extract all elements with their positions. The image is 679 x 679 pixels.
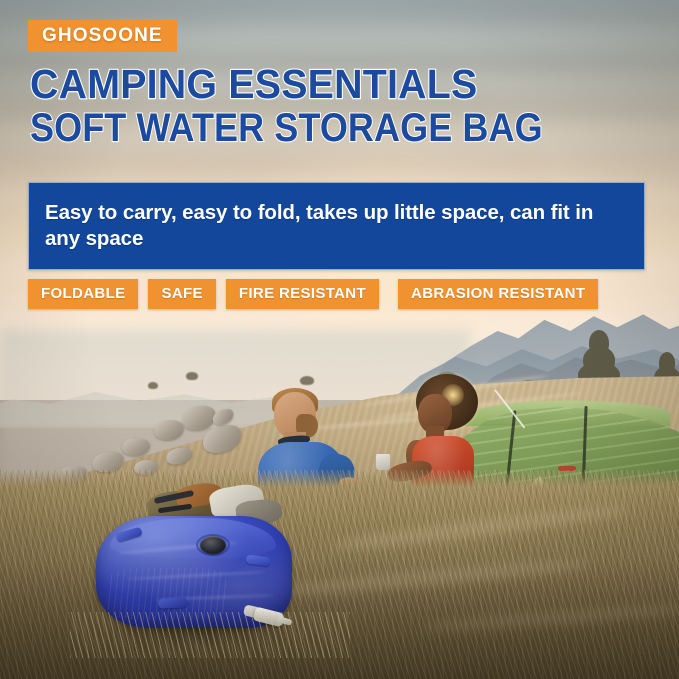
description-text: Easy to carry, easy to fold, takes up li… [29, 200, 644, 252]
brand-badge: GHOSOONE [28, 20, 177, 52]
feature-tag-foldable: FOLDABLE [28, 279, 138, 309]
feature-tag-abrasion-resistant: ABRASION RESISTANT [398, 279, 598, 309]
headline-line-2: SOFT WATER STORAGE BAG [30, 108, 543, 148]
feature-tag-safe: SAFE [148, 279, 215, 309]
feature-tag-fire-resistant: FIRE RESISTANT [226, 279, 379, 309]
description-banner: Easy to carry, easy to fold, takes up li… [28, 182, 645, 270]
text-overlay: GHOSOONE CAMPING ESSENTIALS SOFT WATER S… [0, 0, 679, 679]
headline-line-1: CAMPING ESSENTIALS [30, 64, 577, 105]
feature-tag-list: FOLDABLE SAFE FIRE RESISTANT ABRASION RE… [28, 279, 598, 309]
product-poster: GHOSOONE CAMPING ESSENTIALS SOFT WATER S… [0, 0, 679, 679]
page-title: CAMPING ESSENTIALS SOFT WATER STORAGE BA… [30, 64, 600, 148]
